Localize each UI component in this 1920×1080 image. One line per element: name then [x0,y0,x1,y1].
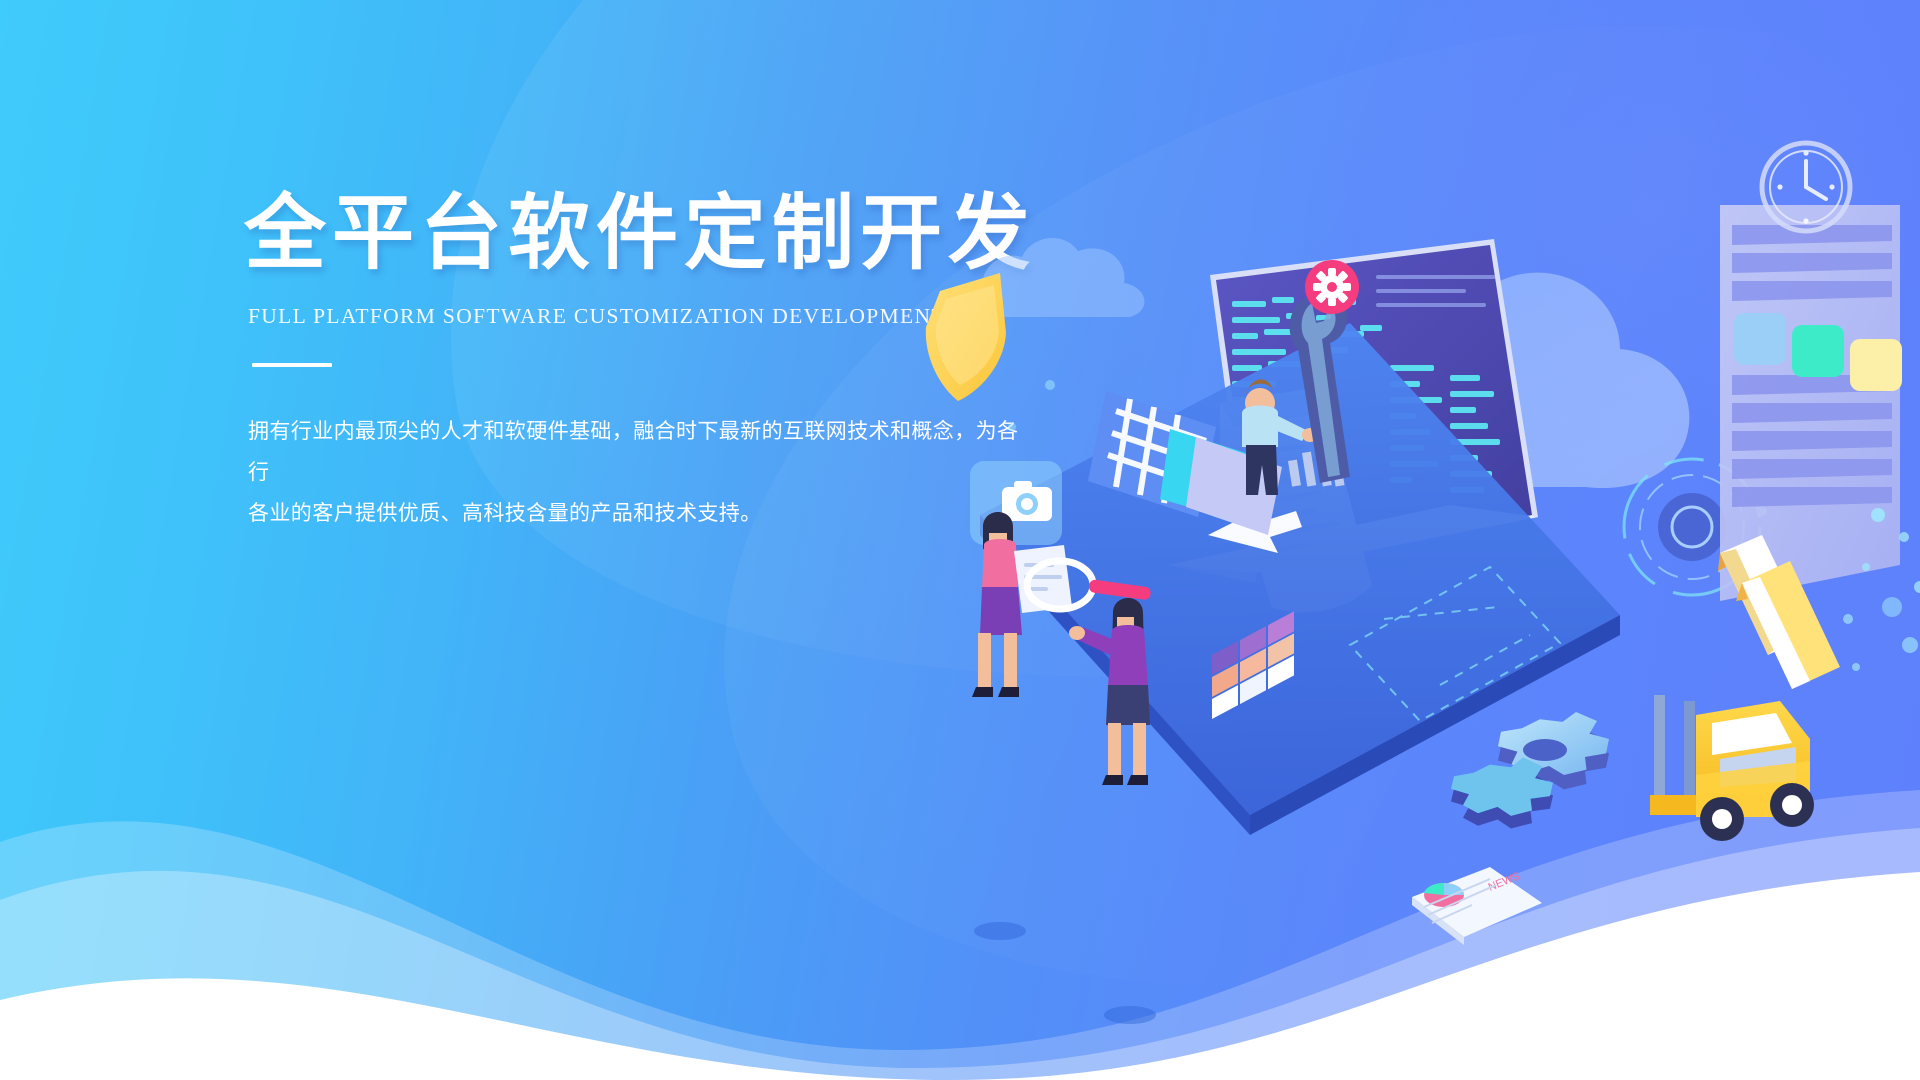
page-title: 全平台软件定制开发 [244,192,1064,276]
hero-description-line-1: 拥有行业内最顶尖的人才和软硬件基础，融合时下最新的互联网技术和概念，为各行 [248,411,1038,493]
gear-stack [1451,712,1609,829]
divider [252,363,332,367]
hero-banner: 全平台软件定制开发 FULL PLATFORM SOFTWARE CUSTOMI… [0,0,1920,1080]
hero-description-line-2: 各业的客户提供优质、高科技含量的产品和技术支持。 [248,493,1038,534]
forklift [1650,695,1814,841]
gear-icon [1313,268,1351,306]
hero-description: 拥有行业内最顶尖的人才和软硬件基础，融合时下最新的互联网技术和概念，为各行 各业… [248,411,1038,534]
hero-illustration: NEWS [1020,215,1920,915]
